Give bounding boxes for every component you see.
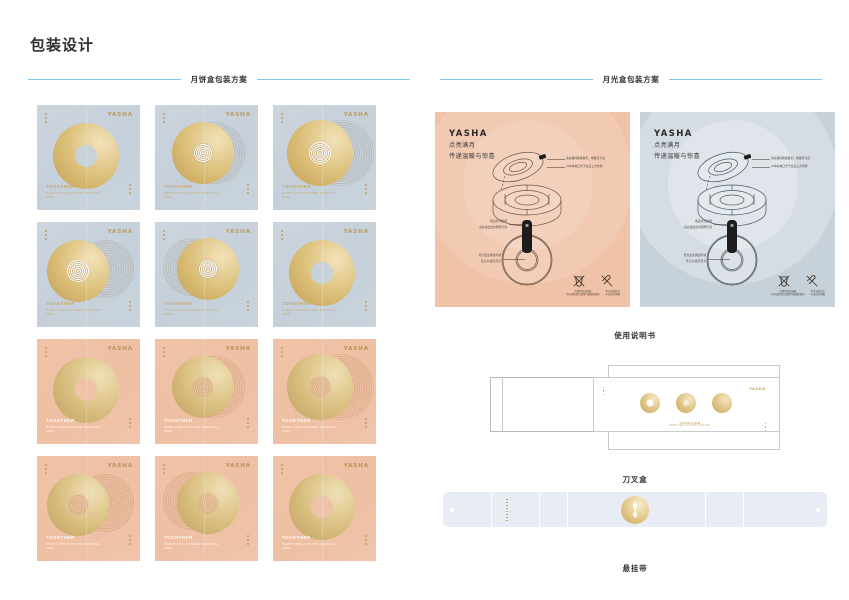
mooncake-box-tile[interactable]: YASHATOGETHERHAPPY MID AUTUMN FESTIVAL20…: [155, 456, 258, 561]
tile-footer-line3: 2025: [164, 195, 219, 200]
warning-caption-4: 中或自行拆解: [606, 293, 620, 297]
tile-footer: TOGETHERHAPPY MID AUTUMN FESTIVAL2025: [282, 535, 337, 551]
callout-top-1: 请先撕掉绝缘胶带，唤醒月光盒: [771, 157, 810, 161]
strap-eyelet-right: [816, 508, 820, 512]
corner-dots-bottom: [365, 184, 367, 194]
callout-top-2: USB充电口位于盒盖上方内侧: [771, 165, 808, 169]
disc-core-rings: [67, 260, 89, 282]
tile-footer-line3: 2025: [46, 312, 101, 317]
disc-core-rings: [67, 494, 89, 516]
warning-captions: 外置带电加湿器勿可近距离注视本灯珠避免损伤不可浸泡在水中或自行拆解: [566, 290, 620, 297]
mooncake-box-tile[interactable]: YASHATOGETHERHAPPY MID AUTUMN FESTIVAL20…: [273, 105, 376, 210]
strap-eyelet-left: [450, 508, 454, 512]
strap-fold-3: [567, 492, 568, 527]
tile-footer: TOGETHERHAPPY MID AUTUMN FESTIVAL2025: [164, 301, 219, 317]
leader-line-mid: [714, 224, 728, 225]
hanging-strap: [443, 492, 827, 527]
gold-disc: [289, 240, 355, 306]
warning-caption-col2: 不可浸泡在水中或自行拆解: [606, 290, 620, 297]
corner-dots-bottom: [247, 418, 249, 428]
no-water-icon: [572, 274, 586, 288]
dieline-dots-bottom: [765, 423, 766, 431]
no-water-icon: [777, 274, 791, 288]
warning-icon-row: [771, 274, 825, 288]
corner-dots-bottom: [129, 418, 131, 428]
disc-core-rings: [198, 493, 218, 513]
disc-core-rings: [309, 376, 331, 398]
tile-footer-line3: 2025: [282, 429, 337, 434]
section-label-mooncake: 月饼盒包装方案: [191, 74, 248, 85]
dieline-cake-row: [640, 393, 732, 413]
callout-mid-1: 取出月光盒前: [662, 220, 712, 224]
disc-core-rings: [193, 143, 213, 163]
cake-solid-icon: [712, 393, 732, 413]
tile-footer-line3: 2025: [282, 546, 337, 551]
no-disassemble-icon: [600, 274, 614, 288]
strap-fold-1: [491, 492, 492, 527]
callout-mid-2: 请先拿出盒内照明灯饼: [449, 226, 507, 230]
divider-rule-right: [257, 79, 410, 80]
strap-fold-5: [743, 492, 744, 527]
tile-row: YASHATOGETHERHAPPY MID AUTUMN FESTIVAL20…: [37, 222, 397, 327]
mooncake-box-tile[interactable]: YASHATOGETHERHAPPY MID AUTUMN FESTIVAL20…: [273, 222, 376, 327]
tile-footer: TOGETHERHAPPY MID AUTUMN FESTIVAL2025: [46, 301, 101, 317]
label-cutlery-box: 刀叉盒: [435, 474, 835, 485]
cake-soft-icon: [676, 393, 696, 413]
corner-dots-bottom: [247, 301, 249, 311]
tile-footer-line3: 2025: [46, 546, 101, 551]
right-column: YASHA点亮满月传递温暖与惊喜 请先撕掉绝缘胶带，唤醒月光: [435, 0, 835, 600]
tile-footer-line3: 2025: [282, 195, 337, 200]
gold-disc: [53, 357, 119, 423]
warning-caption-col1: 外置带电加湿器勿可近距离注视本灯珠避免损伤: [771, 290, 804, 297]
cake-ring-icon: [640, 393, 660, 413]
callout-low-2: 可点亮/熄灭月光: [449, 260, 501, 264]
section-header-mooncake-box: 月饼盒包装方案: [28, 74, 410, 85]
corner-dots-bottom: [129, 535, 131, 545]
disc-core-rings: [309, 142, 331, 164]
corner-dots-bottom: [365, 418, 367, 428]
tile-row: YASHATOGETHERHAPPY MID AUTUMN FESTIVAL20…: [37, 105, 397, 210]
tile-footer: TOGETHERHAPPY MID AUTUMN FESTIVAL2025: [282, 418, 337, 434]
cutlery-box-dieline: YASHA TOGETHER HAPPY MID AUTUMN FESTIVAL: [490, 365, 780, 450]
mooncake-box-grid: YASHATOGETHERHAPPY MID AUTUMN FESTIVAL20…: [37, 105, 397, 573]
dieline-brand: YASHA: [749, 387, 766, 391]
tile-footer-line3: 2025: [282, 312, 337, 317]
callout-low-1: 轻点盒盖侧边区域: [449, 254, 501, 258]
tile-footer: TOGETHERHAPPY MID AUTUMN FESTIVAL2025: [164, 535, 219, 551]
mooncake-box-tile[interactable]: YASHATOGETHERHAPPY MID AUTUMN FESTIVAL20…: [273, 339, 376, 444]
strap-gold-medallion: [621, 496, 649, 524]
disc-hole: [75, 379, 97, 401]
corner-dots-bottom: [129, 184, 131, 194]
tile-footer: TOGETHERHAPPY MID AUTUMN FESTIVAL2025: [164, 418, 219, 434]
warning-caption-4: 中或自行拆解: [811, 293, 825, 297]
slide-canvas: 包装设计 月饼盒包装方案 月光盒包装方案 YASHATOGETHERHAPPY …: [0, 0, 849, 600]
tile-footer-line3: 2025: [46, 195, 101, 200]
strap-tick-marks: [506, 499, 508, 521]
mooncake-box-tile[interactable]: YASHATOGETHERHAPPY MID AUTUMN FESTIVAL20…: [155, 339, 258, 444]
tile-footer: TOGETHERHAPPY MID AUTUMN FESTIVAL2025: [46, 184, 101, 200]
warning-caption-col1: 外置带电加湿器勿可近距离注视本灯珠避免损伤: [566, 290, 599, 297]
leader-line-top-1: [752, 159, 770, 160]
leader-line-top-2: [752, 167, 770, 168]
leader-line-mid: [509, 224, 523, 225]
strap-fold-4: [705, 492, 706, 527]
disc-hole: [311, 262, 333, 284]
corner-dots-bottom: [365, 535, 367, 545]
label-instruction-manual: 使用说明书: [435, 330, 835, 341]
callout-top-2: USB充电口位于盒盖上方内侧: [566, 165, 603, 169]
page-title: 包装设计: [30, 34, 94, 55]
mooncake-box-tile[interactable]: YASHATOGETHERHAPPY MID AUTUMN FESTIVAL20…: [155, 105, 258, 210]
leader-line-low: [503, 259, 525, 260]
tile-footer: TOGETHERHAPPY MID AUTUMN FESTIVAL2025: [282, 184, 337, 200]
leader-line-top-2: [547, 167, 565, 168]
mooncake-box-tile[interactable]: YASHATOGETHERHAPPY MID AUTUMN FESTIVAL20…: [273, 456, 376, 561]
dieline-dots-top: [603, 387, 604, 395]
tile-footer: TOGETHERHAPPY MID AUTUMN FESTIVAL2025: [46, 535, 101, 551]
disc-core-rings: [198, 259, 218, 279]
callout-top-1: 请先撕掉绝缘胶带，唤醒月光盒: [566, 157, 605, 161]
warning-caption-3: 勿可近距离注视本灯珠避免损伤: [566, 293, 599, 297]
corner-dots-bottom: [365, 301, 367, 311]
no-disassemble-icon: [805, 274, 819, 288]
dieline-footer: TOGETHER HAPPY MID AUTUMN FESTIVAL: [650, 421, 730, 427]
tile-footer: TOGETHERHAPPY MID AUTUMN FESTIVAL2025: [164, 184, 219, 200]
warning-captions: 外置带电加湿器勿可近距离注视本灯珠避免损伤不可浸泡在水中或自行拆解: [771, 290, 825, 297]
callout-low-2: 可点亮/熄灭月光: [654, 260, 706, 264]
instruction-sheet-pair: YASHA点亮满月传递温暖与惊喜 请先撕掉绝缘胶带，唤醒月光: [435, 112, 835, 307]
warning-caption-col2: 不可浸泡在水中或自行拆解: [811, 290, 825, 297]
gold-disc: [289, 474, 355, 540]
corner-dots-bottom: [129, 301, 131, 311]
tile-footer-line3: 2025: [164, 546, 219, 551]
callout-mid-2: 请先拿出盒内照明灯饼: [654, 226, 712, 230]
dieline-footer-line2: HAPPY MID AUTUMN FESTIVAL: [650, 425, 730, 427]
corner-dots-bottom: [247, 184, 249, 194]
divider-rule-left: [28, 79, 181, 80]
disc-hole: [311, 496, 333, 518]
tile-row: YASHATOGETHERHAPPY MID AUTUMN FESTIVAL20…: [37, 339, 397, 444]
tile-footer: TOGETHERHAPPY MID AUTUMN FESTIVAL2025: [46, 418, 101, 434]
callout-low-1: 轻点盒盖侧边区域: [654, 254, 706, 258]
instruction-sheet[interactable]: YASHA点亮满月传递温暖与惊喜 请先撕掉绝缘胶带，唤醒月光: [640, 112, 835, 307]
tile-footer-line3: 2025: [46, 429, 101, 434]
leader-line-top-1: [547, 159, 565, 160]
disc-hole: [75, 145, 97, 167]
warning-block: 外置带电加湿器勿可近距离注视本灯珠避免损伤不可浸泡在水中或自行拆解: [771, 274, 825, 297]
callout-mid-1: 取出月光盒前: [457, 220, 507, 224]
mooncake-box-tile[interactable]: YASHATOGETHERHAPPY MID AUTUMN FESTIVAL20…: [155, 222, 258, 327]
mooncake-box-tile[interactable]: YASHATOGETHERHAPPY MID AUTUMN FESTIVAL20…: [37, 222, 140, 327]
tile-footer-line3: 2025: [164, 429, 219, 434]
label-hanging-strap: 悬挂带: [435, 563, 835, 574]
mooncake-box-tile[interactable]: YASHATOGETHERHAPPY MID AUTUMN FESTIVAL20…: [37, 339, 140, 444]
corner-dots-bottom: [247, 535, 249, 545]
warning-block: 外置带电加湿器勿可近距离注视本灯珠避免损伤不可浸泡在水中或自行拆解: [566, 274, 620, 297]
leader-line-low: [708, 259, 730, 260]
instruction-sheet[interactable]: YASHA点亮满月传递温暖与惊喜 请先撕掉绝缘胶带，唤醒月光: [435, 112, 630, 307]
tile-footer: TOGETHERHAPPY MID AUTUMN FESTIVAL2025: [282, 301, 337, 317]
tile-row: YASHATOGETHERHAPPY MID AUTUMN FESTIVAL20…: [37, 456, 397, 561]
tile-footer-line3: 2025: [164, 312, 219, 317]
gold-disc: [53, 123, 119, 189]
warning-caption-3: 勿可近距离注视本灯珠避免损伤: [771, 293, 804, 297]
mooncake-box-tile[interactable]: YASHATOGETHERHAPPY MID AUTUMN FESTIVAL20…: [37, 105, 140, 210]
warning-icon-row: [566, 274, 620, 288]
strap-fold-2: [539, 492, 540, 527]
disc-core-rings: [193, 377, 213, 397]
mooncake-box-tile[interactable]: YASHATOGETHERHAPPY MID AUTUMN FESTIVAL20…: [37, 456, 140, 561]
